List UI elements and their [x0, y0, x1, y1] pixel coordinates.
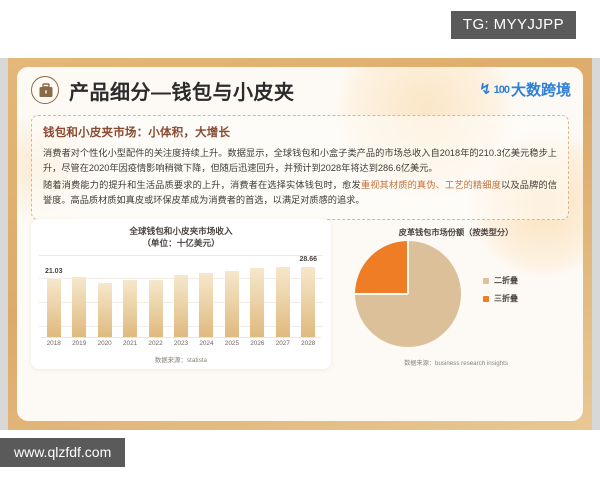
bar-chart-subtitle: （单位：十亿美元） — [39, 238, 323, 250]
legend-label: 三折叠 — [494, 293, 518, 304]
bar — [276, 267, 290, 338]
bar — [225, 271, 239, 338]
legend-label: 二折叠 — [494, 275, 518, 286]
bar-column — [194, 256, 219, 338]
summary-paragraph-1: 消费者对个性化小型配件的关注度持续上升。数据显示，全球钱包和小盒子类产品的市场总… — [43, 146, 557, 176]
bar-chart-plot: 21.0328.66 20182019202020212022202320242… — [39, 255, 323, 352]
briefcase-icon — [31, 76, 59, 104]
legend-item: 二折叠 — [483, 275, 518, 286]
slide: 产品细分—钱包与小皮夹 ↯ 100 大数跨境 钱包和小皮夹市场：小体积，大增长 … — [17, 67, 583, 421]
top-strip: TG: MYYJJPP — [0, 0, 600, 58]
logo-text: 大数跨境 — [511, 79, 571, 100]
pie-separator-horizontal — [355, 293, 408, 295]
bar — [174, 275, 188, 338]
x-axis-tick: 2026 — [245, 340, 270, 352]
bar-chart-card: 全球钱包和小皮夹市场收入 （单位：十亿美元） 21.0328.66 201820… — [31, 219, 331, 369]
x-axis-tick: 2020 — [92, 340, 117, 352]
charts-row: 全球钱包和小皮夹市场收入 （单位：十亿美元） 21.0328.66 201820… — [31, 219, 569, 369]
legend-swatch — [483, 296, 489, 302]
slide-header: 产品细分—钱包与小皮夹 ↯ 100 大数跨境 — [17, 67, 583, 113]
paragraph-1-text: 消费者对个性化小型配件的关注度持续上升。数据显示，全球钱包和小盒子类产品的市场总… — [43, 148, 557, 173]
bar — [250, 268, 264, 338]
legend-item: 三折叠 — [483, 293, 518, 304]
watermark-label: www.qlzfdf.com — [0, 438, 125, 467]
x-axis-tick: 2023 — [168, 340, 193, 352]
pie-chart-card: 皮革钱包市场份额（按类型分） 二折叠三折叠 数据来源：business rese… — [343, 219, 569, 369]
pie-separator-vertical — [407, 241, 409, 294]
legend-swatch — [483, 278, 489, 284]
bar-column: 28.66 — [296, 256, 321, 338]
bar-column — [66, 256, 91, 338]
bar-value-label: 21.03 — [45, 268, 63, 277]
x-axis-tick: 2025 — [219, 340, 244, 352]
bar — [123, 280, 137, 338]
x-axis-tick: 2018 — [41, 340, 66, 352]
summary-text-card: 钱包和小皮夹市场：小体积，大增长 消费者对个性化小型配件的关注度持续上升。数据显… — [31, 115, 569, 220]
slide-frame: 产品细分—钱包与小皮夹 ↯ 100 大数跨境 钱包和小皮夹市场：小体积，大增长 … — [8, 58, 592, 430]
page-title: 产品细分—钱包与小皮夹 — [69, 76, 295, 105]
bar-value-label: 28.66 — [299, 256, 317, 264]
bar-column: 21.03 — [41, 256, 66, 338]
pie-chart — [355, 241, 461, 347]
bar-chart-title: 全球钱包和小皮夹市场收入 — [39, 226, 323, 238]
x-axis-tick: 2022 — [143, 340, 168, 352]
bar — [47, 279, 61, 339]
bar — [98, 283, 112, 338]
bar-column — [117, 256, 142, 338]
pie-chart-legend: 二折叠三折叠 — [483, 275, 518, 304]
paragraph-2-text-a: 随着消费能力的提升和生活品质要求的上升，消费者在选择实体钱包时，愈发 — [43, 180, 361, 190]
tg-tag: TG: MYYJJPP — [451, 11, 576, 39]
bar — [149, 280, 163, 338]
logo-mark-icon: ↯ — [479, 82, 492, 97]
bar-series: 21.0328.66 — [41, 256, 321, 338]
pie-chart-source: 数据来源：business research insights — [343, 358, 569, 367]
bar-column — [168, 256, 193, 338]
bar-column — [219, 256, 244, 338]
bar-column — [245, 256, 270, 338]
x-axis-tick: 2019 — [66, 340, 91, 352]
bar-column — [92, 256, 117, 338]
watermark-strip: www.qlzfdf.com — [0, 430, 600, 480]
bar — [301, 267, 315, 339]
pie-chart-title: 皮革钱包市场份额（按类型分） — [347, 226, 565, 238]
x-axis: 2018201920202021202220232024202520262027… — [41, 337, 321, 352]
x-axis-tick: 2027 — [270, 340, 295, 352]
brand-logo: ↯ 100 大数跨境 — [479, 79, 571, 100]
x-axis-tick: 2024 — [194, 340, 219, 352]
x-axis-tick: 2028 — [296, 340, 321, 352]
bar-chart-source: 数据来源：statista — [39, 355, 323, 364]
bar — [72, 277, 86, 338]
pie-chart-wrap — [355, 241, 467, 353]
bar — [199, 273, 213, 338]
bar-column — [270, 256, 295, 338]
summary-paragraph-2: 随着消费能力的提升和生活品质要求的上升，消费者在选择实体钱包时，愈发重视其材质的… — [43, 178, 557, 208]
logo-badge: 100 — [494, 84, 509, 96]
x-axis-tick: 2021 — [117, 340, 142, 352]
bar-column — [143, 256, 168, 338]
paragraph-2-highlight: 重视其材质的真伪、工艺的精细度 — [361, 180, 501, 190]
summary-heading: 钱包和小皮夹市场：小体积，大增长 — [43, 124, 557, 140]
